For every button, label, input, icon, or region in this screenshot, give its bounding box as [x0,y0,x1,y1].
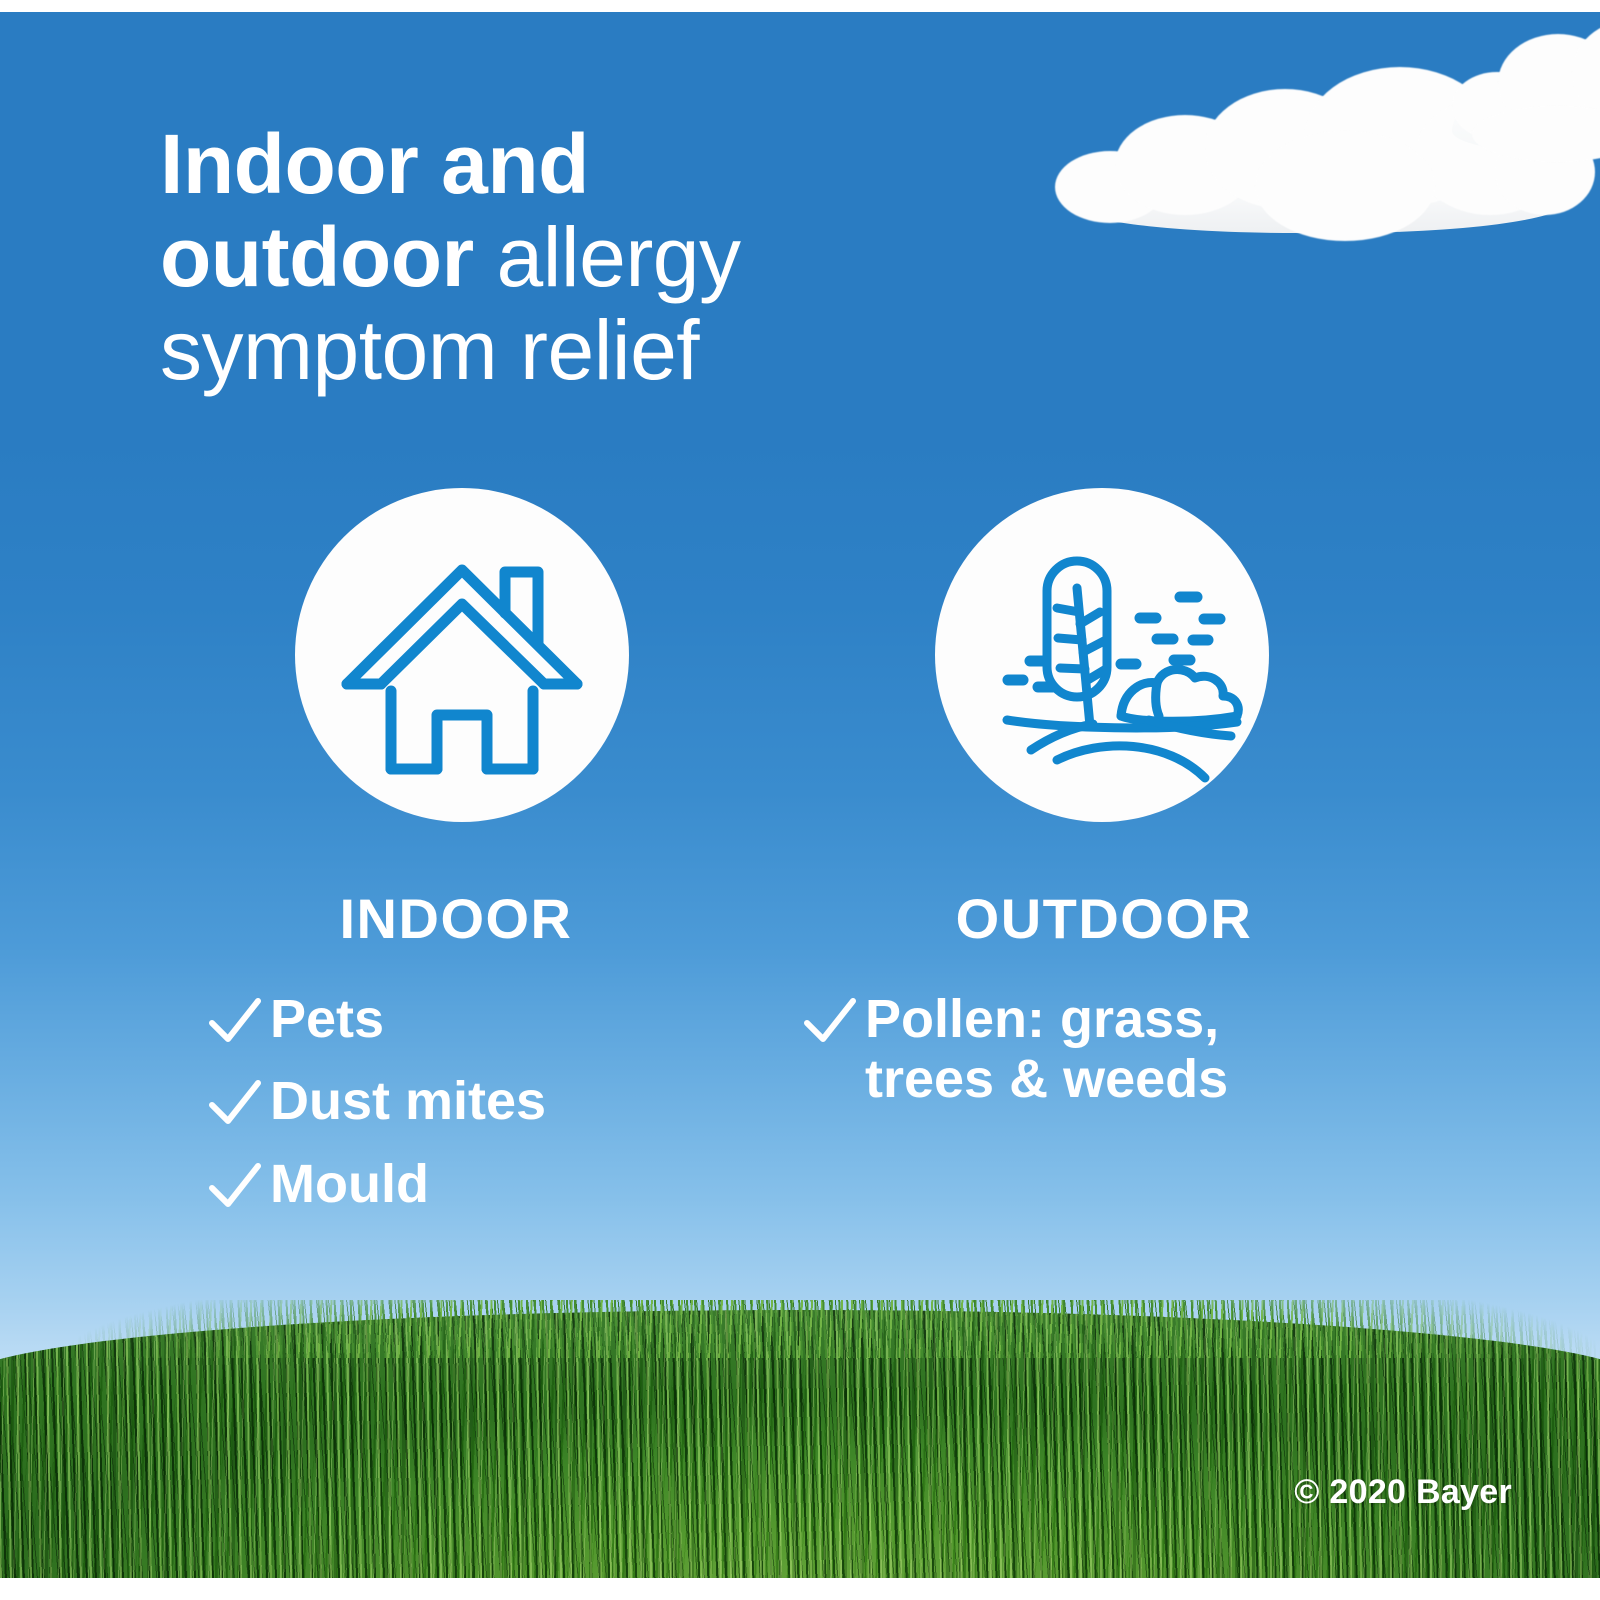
check-icon [803,995,865,1049]
list-item: Pets [208,989,790,1049]
check-icon [208,1077,270,1131]
list-item-label: Mould [270,1154,429,1214]
headline-line-2-light: allergy [474,210,741,304]
bottom-white-strip [0,1578,1600,1600]
list-item: Pollen: grass, trees & weeds [803,989,1445,1110]
page-title: Indoor and outdoor allergy symptom relie… [160,118,980,398]
list-item-label: Pollen: grass, trees & weeds [865,989,1228,1110]
grass-shading [0,1310,1600,1582]
indoor-bullet-list: Pets Dust mites Mould [130,989,790,1214]
grass-field [0,1292,1600,1582]
allergy-relief-poster: Indoor and outdoor allergy symptom relie… [0,0,1600,1600]
check-icon [208,1160,270,1214]
pollen-plant-icon [935,488,1269,822]
copyright-notice: © 2020 Bayer [1294,1473,1512,1512]
outdoor-bullet-list: Pollen: grass, trees & weeds [785,989,1445,1110]
column-indoor: INDOOR Pets Dust mites [130,488,790,1236]
indoor-badge [295,488,629,822]
list-item-label: Pets [270,989,384,1049]
headline-line-1: Indoor and [160,117,589,211]
house-icon [295,488,629,822]
headline-line-3: symptom relief [160,303,699,397]
column-outdoor: OUTDOOR Pollen: grass, trees & weeds [785,488,1445,1132]
indoor-title: INDOOR [130,886,790,951]
top-white-strip [0,0,1600,12]
list-item-label: Dust mites [270,1071,546,1131]
list-item: Mould [208,1154,790,1214]
list-item: Dust mites [208,1071,790,1131]
headline-line-2-bold: outdoor [160,210,474,304]
outdoor-badge [935,488,1269,822]
check-icon [208,995,270,1049]
outdoor-title: OUTDOOR [785,886,1445,951]
